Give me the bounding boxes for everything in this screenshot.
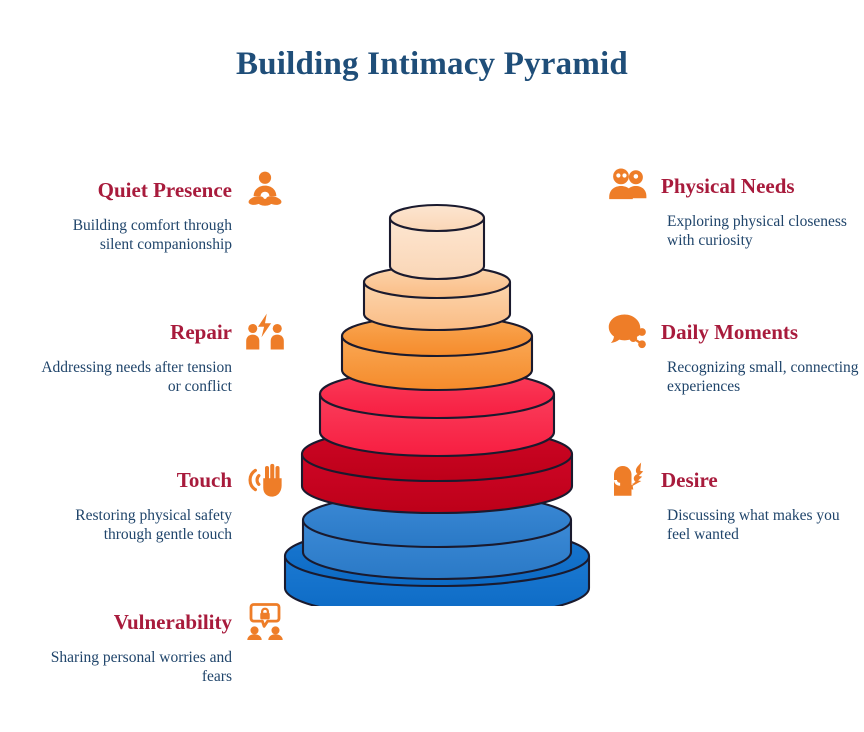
item-description: Building comfort through silent companio…	[37, 216, 232, 254]
item-description: Sharing personal worries and fears	[37, 648, 232, 686]
item-description: Restoring physical safety through gentle…	[37, 506, 232, 544]
pyramid-graphic	[272, 136, 602, 606]
item-title: Daily Moments	[661, 320, 798, 345]
item-header: Daily Moments	[605, 306, 864, 358]
two-people-icon	[605, 163, 651, 209]
item-title: Repair	[170, 320, 232, 345]
item-header: Vulnerability	[18, 596, 288, 648]
item-daily-moments[interactable]: Daily Moments Recognizing small, connect…	[605, 306, 864, 396]
item-title: Quiet Presence	[98, 178, 232, 203]
item-description: Addressing needs after tension or confli…	[37, 358, 232, 396]
people-lock-bubble-icon	[242, 599, 288, 645]
item-quiet-presence[interactable]: Quiet Presence Building comfort through …	[18, 164, 288, 254]
item-description: Recognizing small, connecting experience…	[667, 358, 862, 396]
item-header: Desire	[605, 454, 864, 506]
item-physical-needs[interactable]: Physical Needs Exploring physical closen…	[605, 160, 864, 250]
speech-bubble-share-icon	[605, 309, 651, 355]
item-touch[interactable]: Touch Restoring physical safety through …	[18, 454, 288, 544]
item-header: Repair	[18, 306, 288, 358]
item-header: Physical Needs	[605, 160, 864, 212]
item-description: Discussing what makes you feel wanted	[667, 506, 862, 544]
item-vulnerability[interactable]: Vulnerability Sharing personal worries a…	[18, 596, 288, 686]
item-title: Vulnerability	[114, 610, 232, 635]
item-header: Touch	[18, 454, 288, 506]
item-title: Desire	[661, 468, 718, 493]
item-header: Quiet Presence	[18, 164, 288, 216]
hand-touch-waves-icon	[242, 457, 288, 503]
person-meditating-icon	[242, 167, 288, 213]
person-flame-icon	[605, 457, 651, 503]
item-title: Physical Needs	[661, 174, 795, 199]
item-desire[interactable]: Desire Discussing what makes you feel wa…	[605, 454, 864, 544]
item-repair[interactable]: Repair Addressing needs after tension or…	[18, 306, 288, 396]
item-title: Touch	[177, 468, 232, 493]
item-description: Exploring physical closeness with curios…	[667, 212, 862, 250]
two-people-lightning-icon	[242, 309, 288, 355]
page-title: Building Intimacy Pyramid	[0, 46, 864, 83]
